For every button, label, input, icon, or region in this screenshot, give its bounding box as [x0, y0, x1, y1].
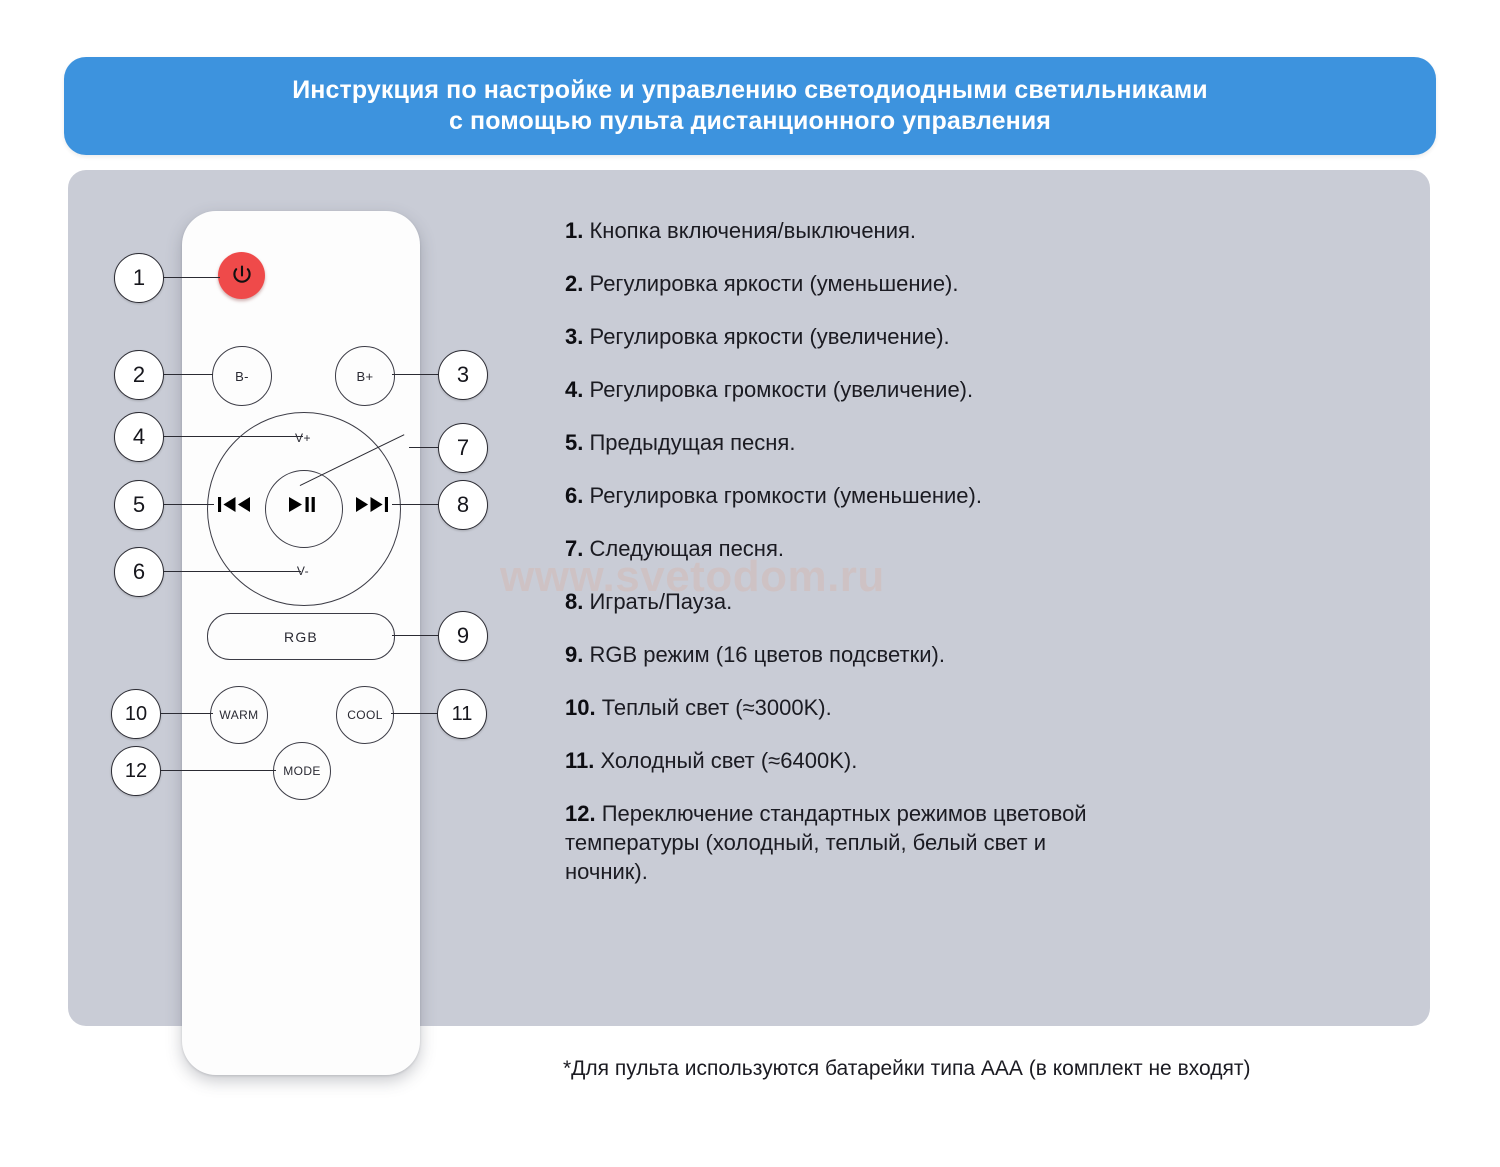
- callout-marker-6[interactable]: 6: [114, 547, 164, 597]
- instruction-item-11: 11. Холодный свет (≈6400K).: [565, 746, 1265, 775]
- callout-marker-12[interactable]: 12: [111, 746, 161, 796]
- callout-marker-4[interactable]: 4: [114, 412, 164, 462]
- instruction-number: 3.: [565, 324, 583, 349]
- callout-marker-5[interactable]: 5: [114, 480, 164, 530]
- instruction-text: Регулировка громкости (увеличение).: [589, 377, 973, 402]
- instruction-text: Регулировка яркости (уменьшение).: [589, 271, 958, 296]
- instruction-text: Холодный свет (≈6400K).: [601, 748, 858, 773]
- callout-marker-11[interactable]: 11: [437, 689, 487, 739]
- instruction-number: 12.: [565, 801, 596, 826]
- instruction-item-5: 5. Предыдущая песня.: [565, 428, 1265, 457]
- callout-label: 11: [452, 703, 473, 726]
- callout-label: 2: [133, 362, 145, 388]
- instruction-text: Следующая песня.: [589, 536, 784, 561]
- callout-marker-7[interactable]: 7: [438, 423, 488, 473]
- instruction-number: 2.: [565, 271, 583, 296]
- page-title-line-1: Инструкция по настройке и управлению све…: [292, 75, 1208, 106]
- instruction-item-1: 1. Кнопка включения/выключения.: [565, 216, 1265, 245]
- instruction-text: Теплый свет (≈3000K).: [602, 695, 832, 720]
- instruction-number: 10.: [565, 695, 596, 720]
- instruction-number: 7.: [565, 536, 583, 561]
- callout-label: 5: [133, 492, 145, 518]
- instruction-item-2: 2. Регулировка яркости (уменьшение).: [565, 269, 1265, 298]
- instruction-number: 8.: [565, 589, 583, 614]
- instruction-item-4: 4. Регулировка громкости (увеличение).: [565, 375, 1265, 404]
- instruction-text: Играть/Пауза.: [589, 589, 732, 614]
- page-title-line-2: с помощью пульта дистанционного управлен…: [292, 106, 1208, 137]
- instruction-list: 1. Кнопка включения/выключения. 2. Регул…: [565, 216, 1265, 886]
- instruction-item-9: 9. RGB режим (16 цветов подсветки).: [565, 640, 1265, 669]
- instruction-text: Регулировка яркости (увеличение).: [589, 324, 949, 349]
- instruction-text: RGB режим (16 цветов подсветки).: [589, 642, 944, 667]
- callout-label: 4: [133, 424, 145, 450]
- callout-marker-3[interactable]: 3: [438, 350, 488, 400]
- callout-label: 12: [125, 760, 147, 783]
- instruction-item-8: 8. Играть/Пауза.: [565, 587, 1265, 616]
- callout-label: 10: [125, 703, 147, 726]
- instruction-item-6: 6. Регулировка громкости (уменьшение).: [565, 481, 1265, 510]
- instruction-item-10: 10. Теплый свет (≈3000K).: [565, 693, 1265, 722]
- callout-label: 1: [133, 265, 145, 291]
- callout-label: 8: [457, 492, 469, 518]
- callout-label: 6: [133, 559, 145, 585]
- instruction-number: 6.: [565, 483, 583, 508]
- callout-label: 3: [457, 362, 469, 388]
- instruction-item-7: 7. Следующая песня.: [565, 534, 1265, 563]
- instruction-item-3: 3. Регулировка яркости (увеличение).: [565, 322, 1265, 351]
- callout-label: 9: [457, 623, 469, 649]
- instruction-number: 5.: [565, 430, 583, 455]
- callout-label: 7: [457, 435, 469, 461]
- callout-marker-9[interactable]: 9: [438, 611, 488, 661]
- callout-marker-1[interactable]: 1: [114, 253, 164, 303]
- callout-marker-10[interactable]: 10: [111, 689, 161, 739]
- footnote: *Для пульта используются батарейки типа …: [563, 1057, 1250, 1081]
- instruction-number: 4.: [565, 377, 583, 402]
- callout-marker-8[interactable]: 8: [438, 480, 488, 530]
- instruction-text: Кнопка включения/выключения.: [589, 218, 916, 243]
- instruction-text: Предыдущая песня.: [589, 430, 795, 455]
- instruction-number: 1.: [565, 218, 583, 243]
- instruction-number: 9.: [565, 642, 583, 667]
- instruction-item-12: 12. Переключение стандартных режимов цве…: [565, 799, 1125, 886]
- instruction-number: 11.: [565, 748, 594, 773]
- page-title-banner: Инструкция по настройке и управлению све…: [64, 57, 1436, 155]
- instruction-text: Переключение стандартных режимов цветово…: [565, 801, 1087, 884]
- instruction-text: Регулировка громкости (уменьшение).: [589, 483, 981, 508]
- callout-marker-2[interactable]: 2: [114, 350, 164, 400]
